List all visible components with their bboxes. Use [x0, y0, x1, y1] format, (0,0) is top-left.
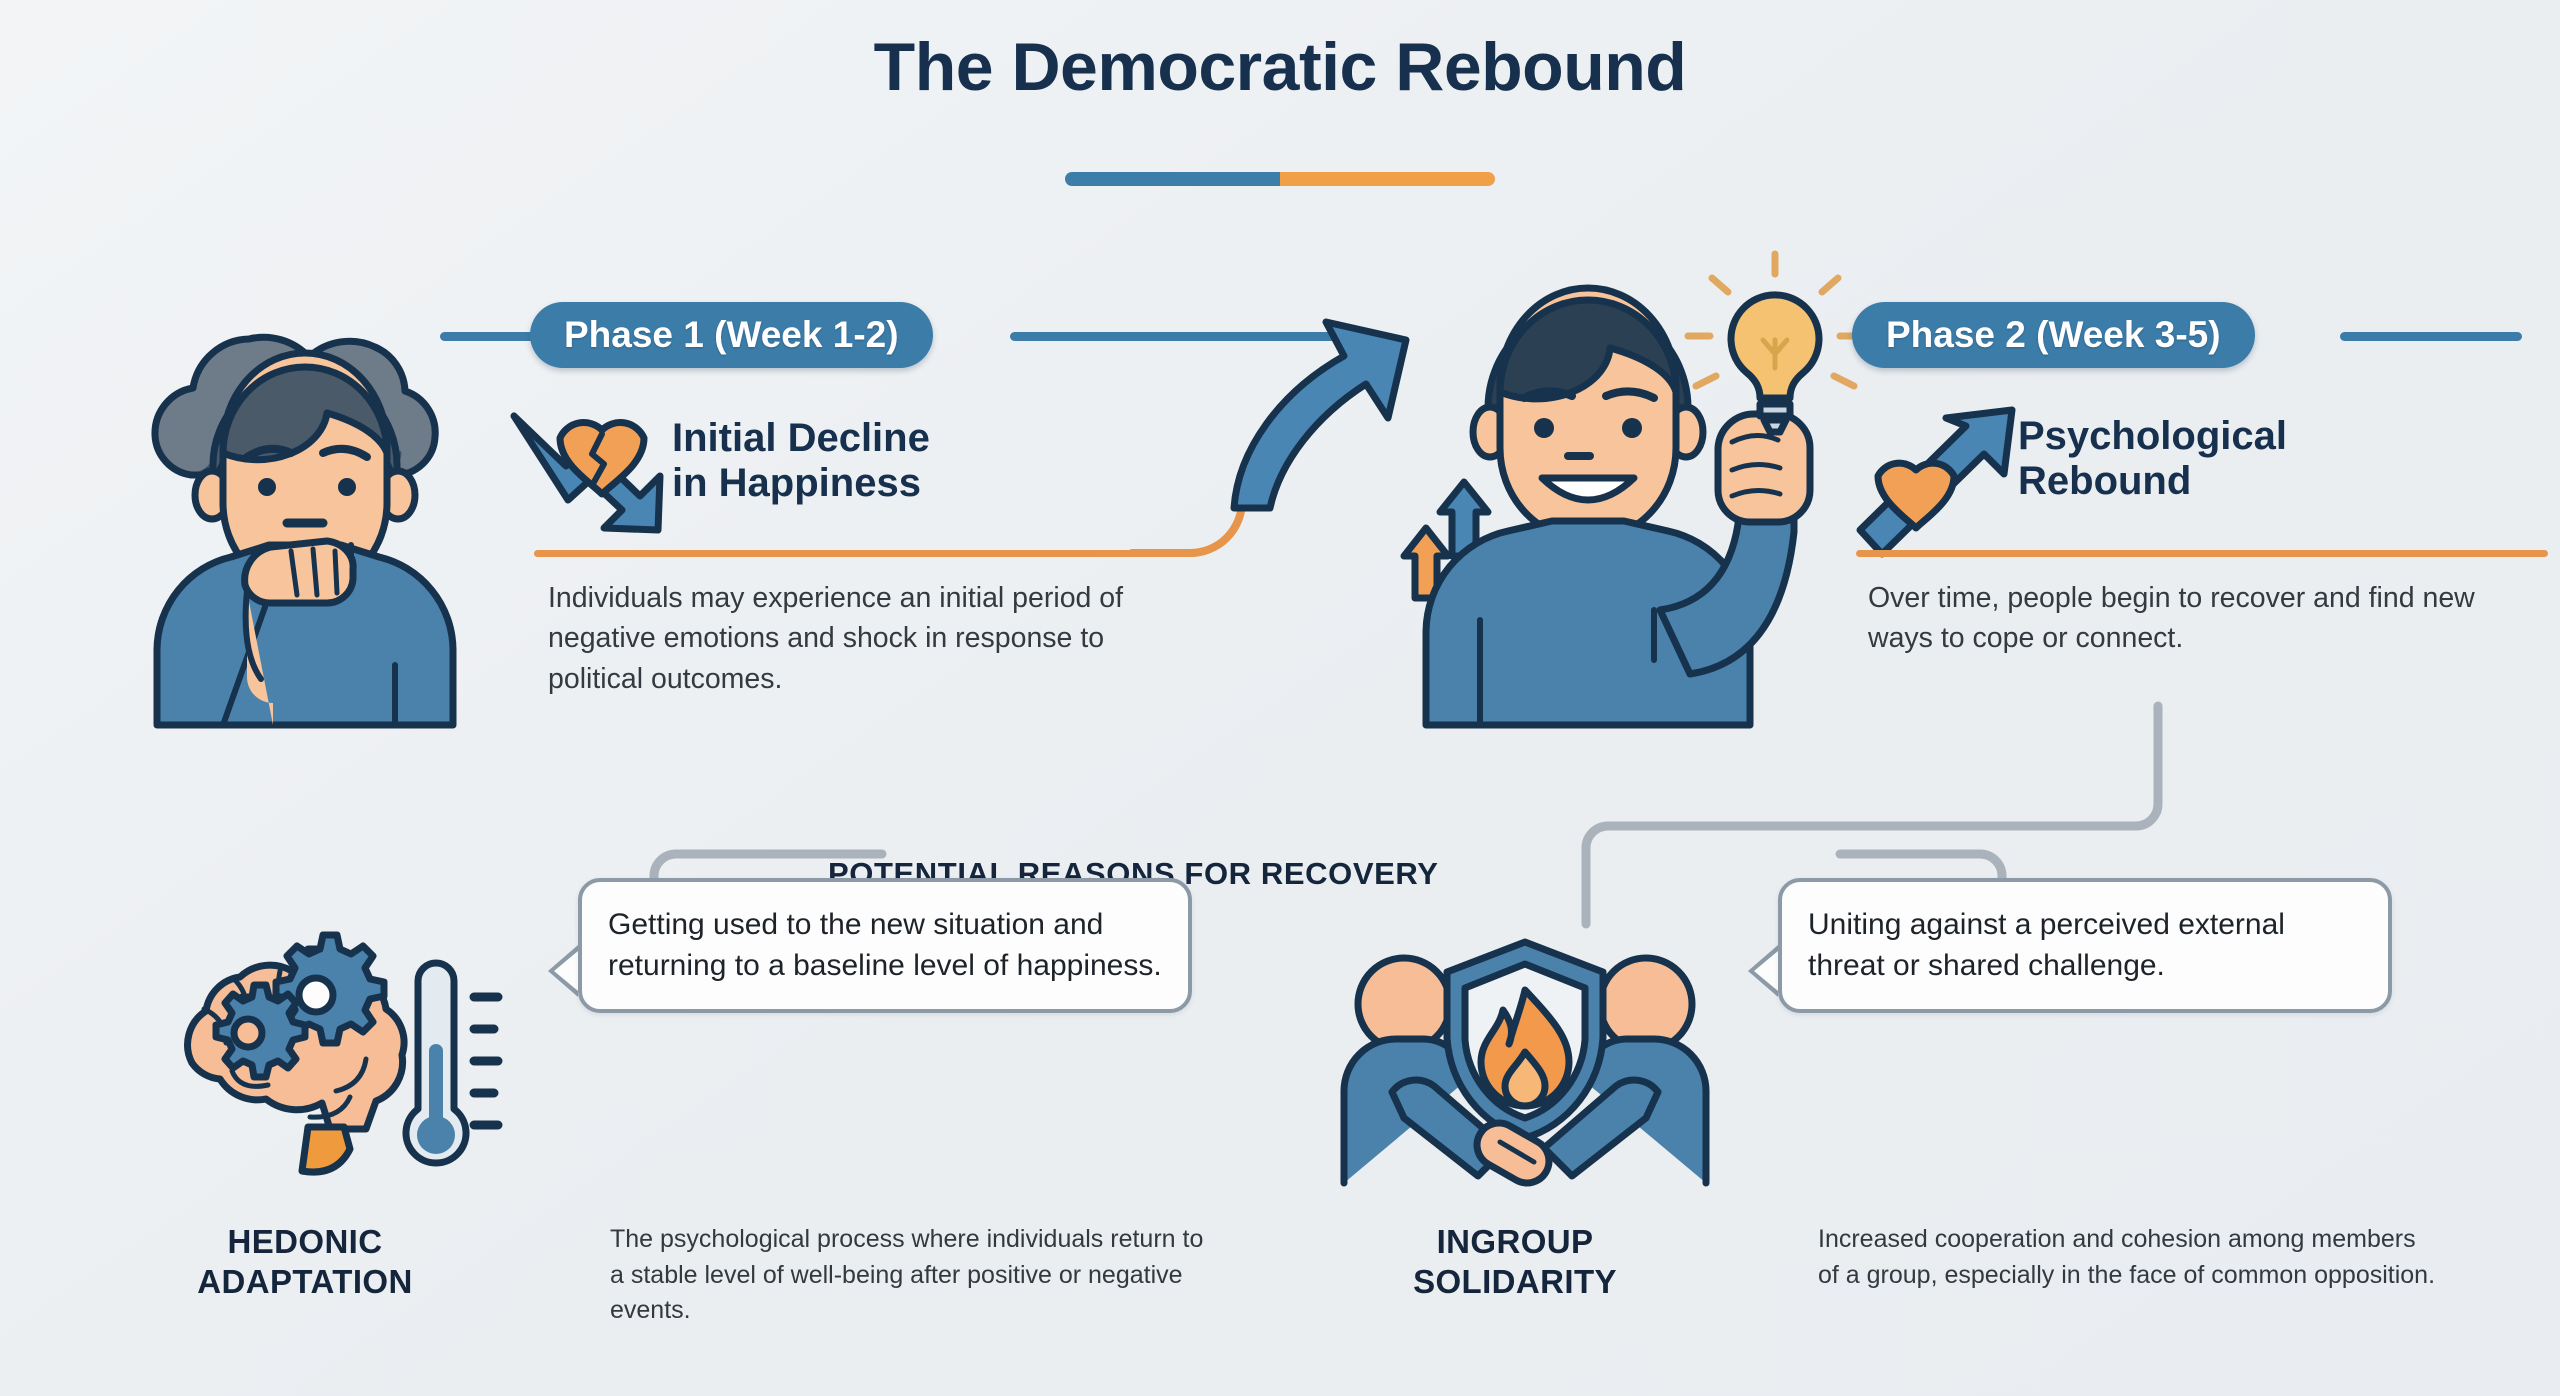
phase-2-heading-line1: Psychological: [2018, 414, 2287, 459]
phase-2-heading-line2: Rebound: [2018, 459, 2287, 504]
hedonic-bubble-tail: [548, 945, 578, 997]
page-title: The Democratic Rebound: [0, 28, 2560, 106]
phase-1-heading-line2: in Happiness: [672, 461, 930, 506]
connector-cloud-to-phase1: [440, 332, 540, 341]
ingroup-bubble: Uniting against a perceived external thr…: [1778, 878, 2392, 1013]
hedonic-bubble: Getting used to the new situation and re…: [578, 878, 1192, 1013]
happy-person-with-lightbulb-illustration: [1380, 280, 1810, 725]
ingroup-bubble-tail: [1748, 945, 1778, 997]
phase-1-badge[interactable]: Phase 1 (Week 1-2): [530, 302, 933, 368]
ingroup-title-line2: SOLIDARITY: [1320, 1262, 1710, 1302]
brain-gears-thermometer-icon: [160, 935, 520, 1175]
phase-1-accent-rule: [534, 550, 1162, 557]
phase-2-accent-rule: [1856, 550, 2548, 557]
phase-1-body: Individuals may experience an initial pe…: [548, 578, 1178, 699]
hedonic-title-line1: HEDONIC: [110, 1222, 500, 1262]
title-rule-orange-segment: [1280, 172, 1495, 186]
phase-2-heading: Psychological Rebound: [2018, 414, 2287, 504]
hedonic-bubble-tail-wrap: [548, 945, 578, 997]
phase-1-heading-line1: Initial Decline: [672, 416, 930, 461]
handshake-shield-flame-icon: [1330, 928, 1720, 1183]
hedonic-title-line2: ADAPTATION: [110, 1262, 500, 1302]
infographic-canvas: The Democratic Rebound: [0, 0, 2560, 1396]
hedonic-description: The psychological process where individu…: [610, 1222, 1210, 1329]
phase-1-heading: Initial Decline in Happiness: [672, 416, 930, 506]
ingroup-title-line1: INGROUP: [1320, 1222, 1710, 1262]
phase-2-body: Over time, people begin to recover and f…: [1868, 578, 2480, 659]
hedonic-title: HEDONIC ADAPTATION: [110, 1222, 500, 1301]
ingroup-bubble-tail-wrap: [1748, 945, 1778, 997]
title-rule-blue-segment: [1065, 172, 1280, 186]
ingroup-description: Increased cooperation and cohesion among…: [1818, 1222, 2438, 1293]
phase-2-badge[interactable]: Phase 2 (Week 3-5): [1852, 302, 2255, 368]
ingroup-title: INGROUP SOLIDARITY: [1320, 1222, 1710, 1301]
connector-phase2-right: [2340, 332, 2522, 341]
title-underline-rule: [1065, 172, 1495, 186]
sad-person-with-storm-cloud-illustration: [95, 285, 525, 725]
